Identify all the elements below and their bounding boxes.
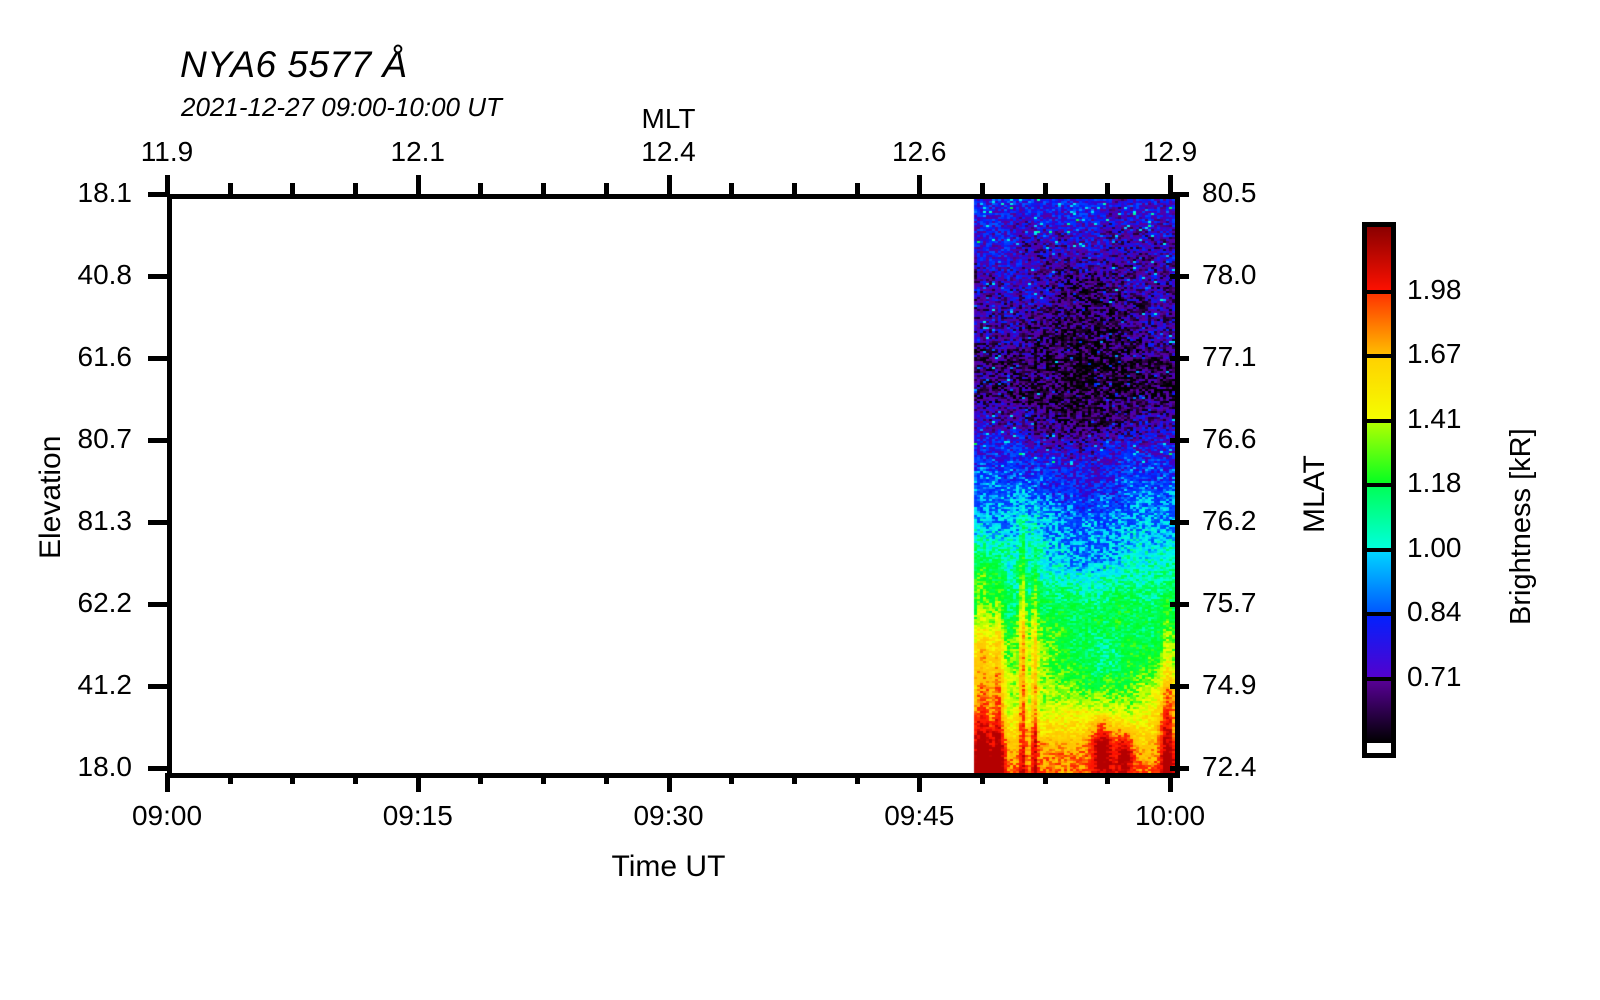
top-axis-tick-label: 11.9 bbox=[122, 136, 212, 168]
colorbar-band-separator bbox=[1367, 548, 1391, 552]
bottom-axis-minor-tick bbox=[792, 773, 797, 784]
right-axis-tick-label: 75.7 bbox=[1202, 587, 1322, 619]
right-axis-tick bbox=[1170, 438, 1189, 443]
top-axis-tick-label: 12.6 bbox=[874, 136, 964, 168]
top-axis-tick bbox=[667, 175, 672, 194]
top-axis-minor-tick bbox=[228, 183, 233, 194]
colorbar-tick-label: 0.84 bbox=[1407, 596, 1462, 628]
colorbar-tick-label: 1.00 bbox=[1407, 532, 1462, 564]
left-axis-tick-label: 41.2 bbox=[7, 669, 132, 701]
left-axis-tick bbox=[148, 356, 167, 361]
bottom-axis-minor-tick bbox=[541, 773, 546, 784]
bottom-axis-tick bbox=[917, 773, 922, 792]
bottom-axis-tick bbox=[667, 773, 672, 792]
top-axis-minor-tick bbox=[541, 183, 546, 194]
colorbar-band bbox=[1367, 227, 1391, 292]
top-axis-minor-tick bbox=[980, 183, 985, 194]
left-axis-tick-label: 18.0 bbox=[7, 751, 132, 783]
bottom-axis-minor-tick bbox=[604, 773, 609, 784]
right-axis-tick-label: 72.4 bbox=[1202, 751, 1322, 783]
left-axis-tick-label: 61.6 bbox=[7, 341, 132, 373]
right-axis-tick-label: 80.5 bbox=[1202, 177, 1322, 209]
left-axis-tick bbox=[148, 602, 167, 607]
colorbar[interactable] bbox=[1362, 222, 1396, 758]
colorbar-band bbox=[1367, 421, 1391, 486]
bottom-axis-minor-tick bbox=[228, 773, 233, 784]
bottom-axis-tick-label: 09:00 bbox=[107, 800, 227, 832]
bottom-axis-tick bbox=[1168, 773, 1173, 792]
top-axis-minor-tick bbox=[1105, 183, 1110, 194]
right-axis-tick-label: 78.0 bbox=[1202, 259, 1322, 291]
bottom-axis-title: Time UT bbox=[559, 850, 779, 884]
top-axis-minor-tick bbox=[604, 183, 609, 194]
colorbar-band bbox=[1367, 292, 1391, 357]
left-axis-tick bbox=[148, 192, 167, 197]
top-axis-minor-tick bbox=[792, 183, 797, 194]
bottom-axis-minor-tick bbox=[290, 773, 295, 784]
top-axis-tick bbox=[917, 175, 922, 194]
colorbar-band-separator bbox=[1367, 354, 1391, 358]
colorbar-band-separator bbox=[1367, 483, 1391, 487]
right-axis-tick bbox=[1170, 356, 1189, 361]
left-axis-tick-label: 18.1 bbox=[7, 177, 132, 209]
right-axis-tick bbox=[1170, 684, 1189, 689]
left-axis-tick bbox=[148, 766, 167, 771]
left-axis-tick-label: 80.7 bbox=[7, 423, 132, 455]
left-axis-tick-label: 81.3 bbox=[7, 505, 132, 537]
colorbar-band bbox=[1367, 679, 1391, 744]
colorbar-gradient bbox=[1367, 227, 1391, 753]
colorbar-tick-label: 0.71 bbox=[1407, 661, 1462, 693]
colorbar-band-separator bbox=[1367, 290, 1391, 294]
right-axis-tick bbox=[1170, 602, 1189, 607]
top-axis-minor-tick bbox=[855, 183, 860, 194]
left-axis-tick bbox=[148, 684, 167, 689]
top-axis-tick-label: 12.4 bbox=[624, 136, 714, 168]
colorbar-band bbox=[1367, 550, 1391, 615]
bottom-axis-tick bbox=[416, 773, 421, 792]
bottom-axis-tick-label: 09:15 bbox=[358, 800, 478, 832]
right-axis-tick-label: 74.9 bbox=[1202, 669, 1322, 701]
bottom-axis-tick bbox=[165, 773, 170, 792]
colorbar-band bbox=[1367, 485, 1391, 550]
bottom-axis-minor-tick bbox=[729, 773, 734, 784]
colorbar-tick-label: 1.67 bbox=[1407, 338, 1462, 370]
left-axis-tick bbox=[148, 274, 167, 279]
left-axis-tick-label: 62.2 bbox=[7, 587, 132, 619]
top-axis-tick bbox=[416, 175, 421, 194]
right-axis-tick bbox=[1170, 766, 1189, 771]
keogram-image bbox=[172, 199, 1175, 773]
bottom-axis-minor-tick bbox=[353, 773, 358, 784]
colorbar-tick-label: 1.41 bbox=[1407, 403, 1462, 435]
top-axis-minor-tick bbox=[729, 183, 734, 194]
right-axis-tick bbox=[1170, 192, 1189, 197]
left-axis-tick bbox=[148, 438, 167, 443]
top-axis-title: MLT bbox=[624, 103, 714, 135]
left-axis-tick-label: 40.8 bbox=[7, 259, 132, 291]
left-axis-tick bbox=[148, 520, 167, 525]
page-subtitle: 2021-12-27 09:00-10:00 UT bbox=[181, 92, 502, 123]
colorbar-band bbox=[1367, 614, 1391, 679]
top-axis-minor-tick bbox=[290, 183, 295, 194]
bottom-axis-minor-tick bbox=[478, 773, 483, 784]
top-axis-minor-tick bbox=[353, 183, 358, 194]
top-axis-tick-label: 12.1 bbox=[373, 136, 463, 168]
top-axis-minor-tick bbox=[1043, 183, 1048, 194]
right-axis-tick-label: 76.6 bbox=[1202, 423, 1322, 455]
colorbar-band bbox=[1367, 356, 1391, 421]
top-axis-minor-tick bbox=[478, 183, 483, 194]
bottom-axis-minor-tick bbox=[980, 773, 985, 784]
bottom-axis-minor-tick bbox=[1105, 773, 1110, 784]
colorbar-band-separator bbox=[1367, 677, 1391, 681]
colorbar-tick-label: 1.18 bbox=[1407, 467, 1462, 499]
colorbar-band-separator bbox=[1367, 612, 1391, 616]
bottom-axis-minor-tick bbox=[855, 773, 860, 784]
keogram-plot-area[interactable] bbox=[167, 194, 1180, 778]
bottom-axis-tick-label: 10:00 bbox=[1110, 800, 1230, 832]
right-axis-tick-label: 76.2 bbox=[1202, 505, 1322, 537]
right-axis-tick-label: 77.1 bbox=[1202, 341, 1322, 373]
colorbar-tick-label: 1.98 bbox=[1407, 274, 1462, 306]
right-axis-tick bbox=[1170, 520, 1189, 525]
page-title: NYA6 5577 Å bbox=[180, 44, 408, 86]
top-axis-tick-label: 12.9 bbox=[1125, 136, 1215, 168]
bottom-axis-minor-tick bbox=[1043, 773, 1048, 784]
bottom-axis-tick-label: 09:30 bbox=[609, 800, 729, 832]
colorbar-title: Brightness [kR] bbox=[1505, 428, 1538, 625]
bottom-axis-tick-label: 09:45 bbox=[859, 800, 979, 832]
right-axis-tick bbox=[1170, 274, 1189, 279]
colorbar-band-separator bbox=[1367, 419, 1391, 423]
